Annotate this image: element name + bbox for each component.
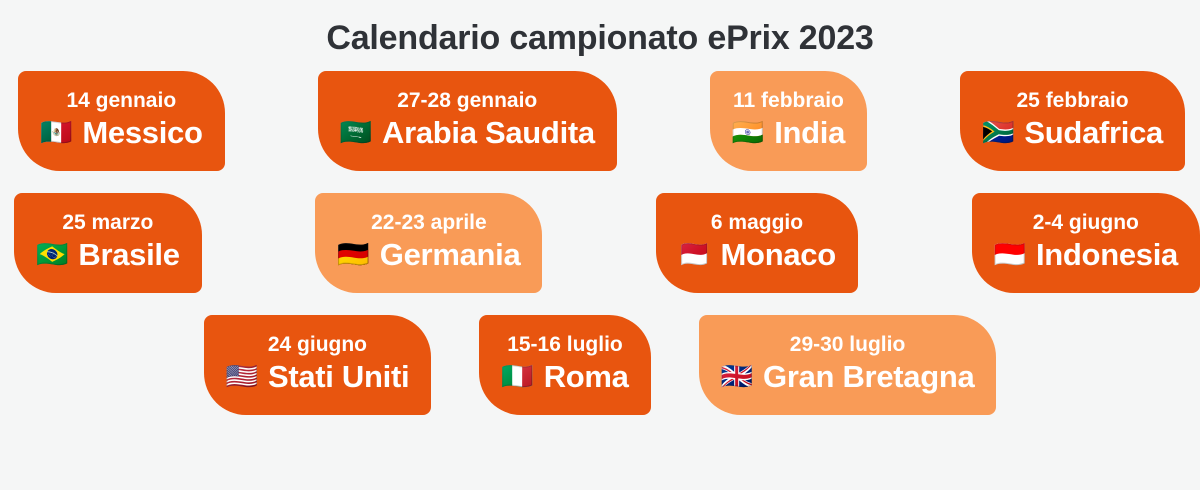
race-card[interactable]: 2-4 giugno🇮🇩Indonesia — [972, 193, 1200, 293]
race-country-label: Arabia Saudita — [382, 116, 595, 150]
race-date: 15-16 luglio — [507, 332, 623, 358]
calendar-row: 14 gennaio🇲🇽Messico27-28 gennaio🇸🇦Arabia… — [0, 71, 1200, 171]
page-title: Calendario campionato ePrix 2023 — [0, 0, 1200, 59]
race-card[interactable]: 29-30 luglio🇬🇧Gran Bretagna — [699, 315, 997, 415]
race-date: 24 giugno — [268, 332, 367, 358]
race-card[interactable]: 14 gennaio🇲🇽Messico — [18, 71, 225, 171]
flag-italy-icon: 🇮🇹 — [501, 364, 533, 390]
race-date: 27-28 gennaio — [397, 88, 537, 114]
race-country-label: Indonesia — [1036, 238, 1178, 272]
race-country: 🇮🇳India — [732, 116, 845, 150]
flag-united-states-icon: 🇺🇸 — [226, 364, 258, 390]
race-country-label: Roma — [544, 360, 629, 394]
calendar-row: 24 giugno🇺🇸Stati Uniti15-16 luglio🇮🇹Roma… — [0, 315, 1200, 415]
race-card[interactable]: 6 maggio🇲🇨Monaco — [656, 193, 858, 293]
calendar-row: 25 marzo🇧🇷Brasile22-23 aprile🇩🇪Germania6… — [0, 193, 1200, 293]
race-date: 14 gennaio — [66, 88, 176, 114]
race-card[interactable]: 25 febbraio🇿🇦Sudafrica — [960, 71, 1185, 171]
flag-germany-icon: 🇩🇪 — [337, 242, 369, 268]
race-card[interactable]: 27-28 gennaio🇸🇦Arabia Saudita — [318, 71, 617, 171]
race-country: 🇲🇨Monaco — [678, 238, 836, 272]
flag-brazil-icon: 🇧🇷 — [36, 242, 68, 268]
calendar-grid: 14 gennaio🇲🇽Messico27-28 gennaio🇸🇦Arabia… — [0, 59, 1200, 415]
race-date: 6 maggio — [711, 210, 803, 236]
race-country: 🇸🇦Arabia Saudita — [340, 116, 595, 150]
race-country: 🇩🇪Germania — [337, 238, 520, 272]
flag-indonesia-icon: 🇮🇩 — [994, 242, 1026, 268]
race-card[interactable]: 22-23 aprile🇩🇪Germania — [315, 193, 542, 293]
race-country: 🇮🇹Roma — [501, 360, 628, 394]
race-date: 22-23 aprile — [371, 210, 487, 236]
race-date: 25 marzo — [62, 210, 153, 236]
flag-south-africa-icon: 🇿🇦 — [982, 120, 1014, 146]
race-country-label: Stati Uniti — [268, 360, 409, 394]
race-card[interactable]: 25 marzo🇧🇷Brasile — [14, 193, 202, 293]
flag-united-kingdom-icon: 🇬🇧 — [721, 364, 753, 390]
flag-saudi-arabia-icon: 🇸🇦 — [340, 120, 372, 146]
race-country: 🇺🇸Stati Uniti — [226, 360, 410, 394]
race-country: 🇲🇽Messico — [40, 116, 203, 150]
race-country-label: Gran Bretagna — [763, 360, 974, 394]
flag-monaco-icon: 🇲🇨 — [678, 242, 710, 268]
race-country-label: Monaco — [721, 238, 836, 272]
flag-mexico-icon: 🇲🇽 — [40, 120, 72, 146]
race-country-label: Germania — [380, 238, 521, 272]
race-date: 2-4 giugno — [1033, 210, 1139, 236]
race-country-label: Brasile — [78, 238, 179, 272]
race-country: 🇮🇩Indonesia — [994, 238, 1178, 272]
race-country: 🇬🇧Gran Bretagna — [721, 360, 975, 394]
race-date: 25 febbraio — [1017, 88, 1129, 114]
race-country-label: Sudafrica — [1024, 116, 1163, 150]
race-country-label: India — [774, 116, 845, 150]
race-card[interactable]: 11 febbraio🇮🇳India — [710, 71, 867, 171]
flag-india-icon: 🇮🇳 — [732, 120, 764, 146]
race-card[interactable]: 15-16 luglio🇮🇹Roma — [479, 315, 650, 415]
race-country-label: Messico — [82, 116, 202, 150]
race-date: 29-30 luglio — [790, 332, 906, 358]
race-country: 🇧🇷Brasile — [36, 238, 180, 272]
race-country: 🇿🇦Sudafrica — [982, 116, 1163, 150]
race-card[interactable]: 24 giugno🇺🇸Stati Uniti — [204, 315, 432, 415]
race-date: 11 febbraio — [733, 88, 844, 114]
